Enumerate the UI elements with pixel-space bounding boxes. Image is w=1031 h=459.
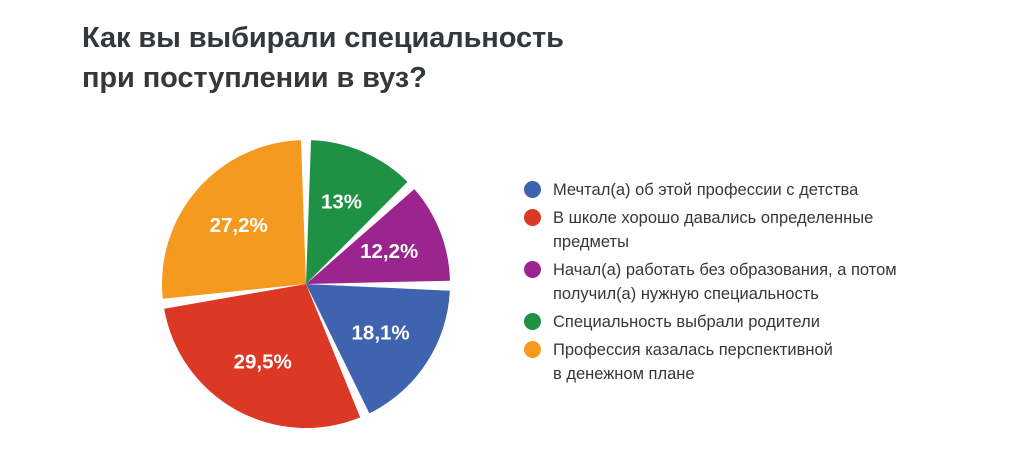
- pie-slice-label: 13%: [321, 191, 362, 214]
- pie-slice-label: 12,2%: [360, 240, 418, 263]
- pie-chart-figure: 13%12,2%18,1%29,5%27,2% Мечтал(а) об это…: [0, 0, 1031, 459]
- pie-slices-group: [162, 140, 450, 428]
- legend-item-label: Мечтал(а) об этой профессии с детства: [553, 178, 858, 202]
- legend-item[interactable]: Профессия казалась перспективной в денеж…: [524, 338, 954, 386]
- circle-bullet-icon: [524, 341, 541, 358]
- legend-item[interactable]: Начал(а) работать без образования, а пот…: [524, 258, 954, 306]
- pie-slice-label: 27,2%: [210, 214, 268, 237]
- circle-bullet-icon: [524, 181, 541, 198]
- pie-chart-svg: 13%12,2%18,1%29,5%27,2%: [160, 138, 452, 430]
- circle-bullet-icon: [524, 313, 541, 330]
- circle-bullet-icon: [524, 261, 541, 278]
- circle-bullet-icon: [524, 209, 541, 226]
- legend-item-label: В школе хорошо давались определенные пре…: [553, 206, 873, 254]
- pie-slice-label: 18,1%: [352, 322, 410, 345]
- legend-item[interactable]: В школе хорошо давались определенные пре…: [524, 206, 954, 254]
- legend-item[interactable]: Мечтал(а) об этой профессии с детства: [524, 178, 954, 202]
- legend-item-label: Начал(а) работать без образования, а пот…: [553, 258, 897, 306]
- legend-item-label: Профессия казалась перспективной в денеж…: [553, 338, 833, 386]
- pie-slice-label: 29,5%: [234, 351, 292, 374]
- chart-legend: Мечтал(а) об этой профессии с детстваВ ш…: [524, 178, 954, 390]
- legend-item-label: Специальность выбрали родители: [553, 310, 820, 334]
- legend-item[interactable]: Специальность выбрали родители: [524, 310, 954, 334]
